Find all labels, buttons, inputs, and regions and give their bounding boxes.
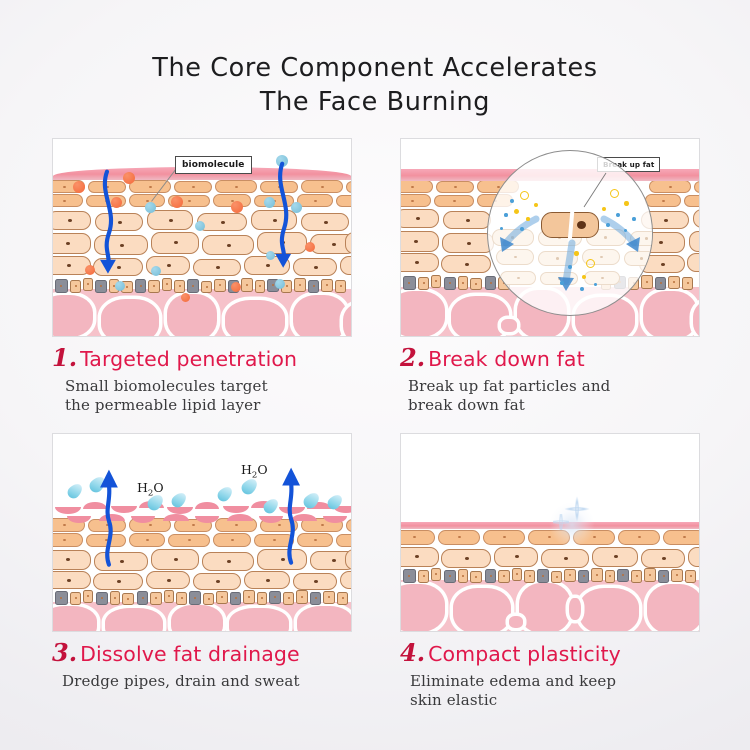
step-body-3: Dredge pipes, drain and sweat	[52, 672, 352, 691]
biomolecule-label: biomolecule	[175, 156, 252, 174]
step-caption-4: 4. Compact plasticity Eliminate edema an…	[400, 632, 700, 710]
step-title-1: Targeted penetration	[80, 349, 297, 370]
step-caption-2: 2. Break down fat Break up fat particles…	[400, 337, 700, 415]
step-number-4: 4.	[400, 641, 425, 665]
drainage-arrows	[53, 434, 351, 631]
compact-plasticity-diagram	[400, 433, 700, 632]
title-line-2: The Face Burning	[0, 86, 750, 120]
steps-grid: biomolecule 1. Targeted penetration Smal…	[52, 138, 700, 710]
page-title: The Core Component Accelerates The Face …	[0, 52, 750, 119]
step-caption-1: 1. Targeted penetration Small biomolecul…	[52, 337, 352, 415]
break-down-fat-diagram: Break up fat	[400, 138, 700, 337]
step-body-2: Break up fat particles and break down fa…	[400, 377, 700, 415]
dissolve-fat-drainage-diagram: H2O H2O	[52, 433, 352, 632]
step-body-4: Eliminate edema and keep skin elastic	[400, 672, 700, 710]
dispersion-arrows	[488, 151, 653, 316]
magnifier-circle	[487, 150, 653, 316]
step-title-2: Break down fat	[428, 349, 585, 370]
step-block-3: H2O H2O 3. Dissolve fat drainage Dredge …	[52, 433, 352, 710]
step-block-4: 4. Compact plasticity Eliminate edema an…	[400, 433, 700, 710]
step-number-3: 3.	[52, 641, 77, 665]
step-body-1: Small biomolecules target the permeable …	[52, 377, 352, 415]
step-block-2: Break up fat 2. Break down fat Break up …	[400, 138, 700, 415]
targeted-penetration-diagram: biomolecule	[52, 138, 352, 337]
title-line-1: The Core Component Accelerates	[0, 52, 750, 86]
step-block-1: biomolecule 1. Targeted penetration Smal…	[52, 138, 352, 415]
step-number-2: 2.	[400, 346, 425, 370]
step-caption-3: 3. Dissolve fat drainage Dredge pipes, d…	[52, 632, 352, 691]
step-title-4: Compact plasticity	[428, 644, 621, 665]
step-number-1: 1.	[52, 346, 77, 370]
step-title-3: Dissolve fat drainage	[80, 644, 300, 665]
sparkle-icon	[553, 514, 569, 530]
